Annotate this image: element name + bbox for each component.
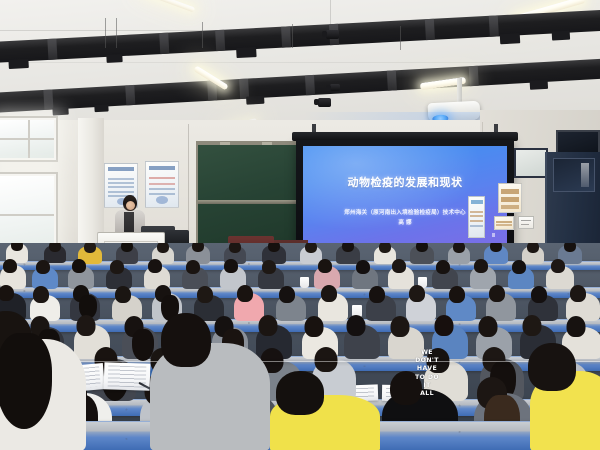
tshirt-line-3: HAVE [398, 365, 456, 373]
wall-framed-display [556, 130, 600, 154]
audience-member [527, 243, 539, 253]
audience-member [148, 259, 162, 273]
audience-member [564, 243, 576, 252]
audience-member [186, 260, 200, 274]
door-window [553, 158, 595, 192]
paper-cup [300, 277, 309, 288]
audience-member [392, 259, 406, 273]
audience-member [305, 243, 317, 253]
audience-member [36, 260, 50, 274]
audience-member [279, 286, 295, 303]
audience-member [0, 285, 14, 301]
audience-member [379, 243, 391, 253]
tshirt-line-1: WE [398, 349, 456, 357]
audience-member [305, 316, 324, 337]
wall-poster-right-3 [494, 216, 514, 230]
security-camera-3 [330, 84, 340, 91]
audience-member [416, 243, 428, 252]
audience-member [49, 243, 61, 252]
audience-member [121, 243, 133, 252]
audience-member [77, 315, 96, 336]
audience-member [391, 316, 410, 337]
audience-member-foreground [528, 343, 576, 391]
audience-member [224, 259, 238, 273]
audience-member [33, 286, 49, 303]
audience-member [490, 243, 502, 252]
audience-member [453, 243, 465, 253]
door-transom-window [514, 148, 548, 178]
audience-member [369, 286, 385, 303]
audience-member [157, 243, 169, 253]
audience-member [318, 259, 332, 273]
ceiling-tube-light-1 [141, 0, 195, 12]
audience-member [259, 315, 278, 336]
security-camera-1 [326, 30, 339, 39]
tshirt-line-4: TO DO [398, 374, 456, 382]
audience-member [479, 316, 498, 337]
wall-sign-right [518, 216, 534, 229]
audience-member-foreground [161, 313, 211, 367]
audience-member [409, 285, 425, 302]
audience-member [237, 285, 253, 302]
audience-member [449, 286, 465, 303]
slide-cursor-icon [492, 233, 495, 237]
audience-member [435, 315, 454, 336]
desk-row [0, 361, 600, 362]
audience-member [268, 243, 280, 252]
audience-member [72, 259, 86, 273]
audience-member [531, 286, 547, 303]
audience-member [192, 243, 204, 252]
audience-member [115, 286, 131, 303]
audience-member [321, 285, 337, 302]
audience-member [197, 286, 213, 303]
audience-member [229, 243, 241, 253]
audience-member [110, 260, 124, 274]
audience-member [523, 315, 542, 336]
wall-poster-right-1 [468, 196, 485, 238]
security-camera-2 [318, 98, 331, 107]
tshirt-slogan: WE DON'T HAVE TO DO IT ALL [398, 349, 456, 398]
tshirt-line-5: IT [398, 382, 456, 390]
slide-title: 动物检疫的发展和现状 [303, 174, 507, 190]
audience-member [570, 285, 586, 302]
audience-member [262, 260, 276, 274]
audience-member [474, 259, 488, 273]
hvac-duct-lower [0, 58, 600, 113]
audience-member [342, 243, 354, 252]
audience-member [347, 315, 366, 336]
tshirt-line-6: ALL [398, 390, 456, 398]
audience-member [84, 243, 96, 253]
hvac-duct-upper [0, 10, 600, 63]
audience-member [356, 260, 370, 274]
chalkboard-divider [198, 200, 302, 204]
audience-area [0, 243, 600, 450]
audience-member [3, 259, 17, 273]
window-upper-left [0, 116, 58, 162]
audience-member [512, 260, 526, 274]
wall-poster-left-2 [145, 161, 179, 208]
audience-member-foreground [276, 371, 324, 415]
audience-member [315, 347, 338, 372]
lecture-hall-photo: 动物检疫的发展和现状 郑州海关（原河南出入境检验检疫局）技术中心 高 娜 [0, 0, 600, 450]
audience-member [551, 259, 565, 273]
audience-member [567, 316, 586, 337]
audience-member [436, 260, 450, 274]
audience-member [489, 285, 505, 302]
audience-member [11, 243, 23, 251]
wall-poster-right-2 [498, 183, 522, 213]
